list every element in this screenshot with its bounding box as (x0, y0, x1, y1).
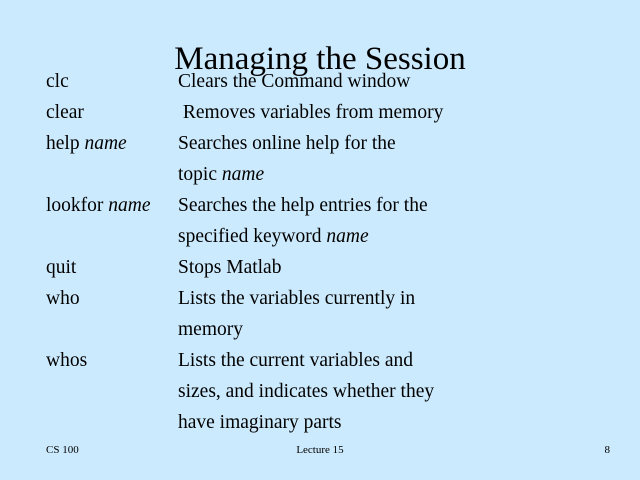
command-description-continuation: topic name (46, 159, 606, 190)
command-description: Stops Matlab (178, 252, 606, 283)
command-row-primary-line: quitStops Matlab (46, 252, 606, 283)
footer-page-number: 8 (605, 440, 611, 460)
command-row-primary-line: help nameSearches online help for the (46, 128, 606, 159)
footer-lecture-label: Lecture 15 (0, 440, 640, 460)
command-description-continuation: specified keyword name (46, 221, 606, 252)
command-description: Removes variables from memory (178, 97, 606, 128)
command-description-continuation: memory (46, 314, 606, 345)
command-name: whos (46, 345, 178, 376)
command-description: Searches online help for the (178, 128, 606, 159)
command-description-continuation: sizes, and indicates whether they (46, 376, 606, 407)
command-row-primary-line: clear Removes variables from memory (46, 97, 606, 128)
command-name: clear (46, 97, 178, 128)
slide: Managing the Session clcClears the Comma… (0, 0, 640, 480)
command-name: help name (46, 128, 178, 159)
command-name-argument: name (108, 195, 150, 216)
command-row: whosLists the current variables andsizes… (46, 345, 606, 438)
command-description: Lists the current variables and (178, 345, 606, 376)
command-row: help nameSearches online help for thetop… (46, 128, 606, 190)
command-name-argument: name (84, 133, 126, 154)
command-row: clcClears the Command window (46, 66, 606, 97)
command-table: clcClears the Command windowclear Remove… (46, 66, 606, 438)
command-description-argument: name (326, 226, 368, 247)
command-row: whoLists the variables currently inmemor… (46, 283, 606, 345)
command-name: quit (46, 252, 178, 283)
command-description-argument: name (222, 164, 264, 185)
command-name: clc (46, 66, 178, 97)
slide-footer: CS 100 Lecture 15 8 (0, 440, 640, 460)
command-description: Clears the Command window (178, 66, 606, 97)
command-description: Lists the variables currently in (178, 283, 606, 314)
command-row: quitStops Matlab (46, 252, 606, 283)
command-row: clear Removes variables from memory (46, 97, 606, 128)
command-name: who (46, 283, 178, 314)
command-description-continuation: have imaginary parts (46, 407, 606, 438)
command-description: Searches the help entries for the (178, 190, 606, 221)
command-row-primary-line: clcClears the Command window (46, 66, 606, 97)
command-row-primary-line: whoLists the variables currently in (46, 283, 606, 314)
command-row: lookfor nameSearches the help entries fo… (46, 190, 606, 252)
command-name: lookfor name (46, 190, 178, 221)
command-row-primary-line: lookfor nameSearches the help entries fo… (46, 190, 606, 221)
command-row-primary-line: whosLists the current variables and (46, 345, 606, 376)
